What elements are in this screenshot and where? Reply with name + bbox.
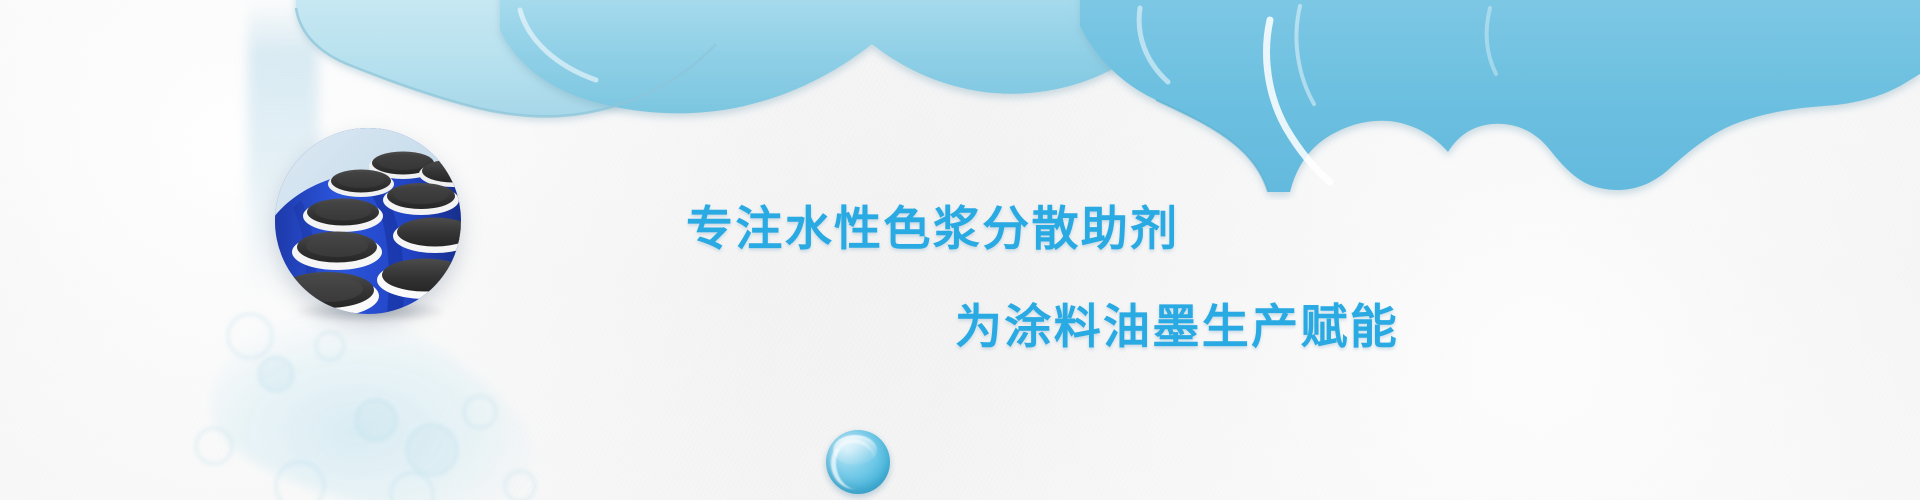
blue-drums-illustration xyxy=(275,128,461,314)
splash-bubble xyxy=(505,471,535,500)
splash-bubble xyxy=(464,396,496,428)
splash-bubble xyxy=(407,425,457,475)
splash-bubble xyxy=(276,462,324,500)
splash-bubble xyxy=(356,400,396,440)
headline-primary: 专注水性色浆分散助剂 xyxy=(686,190,1180,259)
drip-shape-middle xyxy=(500,0,1182,113)
splash-bubble xyxy=(391,473,433,500)
headline-secondary: 为涂料油墨生产赋能 xyxy=(955,288,1399,357)
water-bubble-icon xyxy=(826,430,890,494)
drip-shape-right xyxy=(1080,0,1920,192)
promo-banner: 专注水性色浆分散助剂 为涂料油墨生产赋能 xyxy=(0,0,1920,500)
product-image-circle[interactable] xyxy=(275,128,461,314)
splash-bubble xyxy=(228,314,272,358)
splash-wash xyxy=(210,311,537,500)
splash-bubble xyxy=(316,332,344,360)
splash-bubble xyxy=(259,357,293,391)
splash-bubble xyxy=(196,428,232,464)
